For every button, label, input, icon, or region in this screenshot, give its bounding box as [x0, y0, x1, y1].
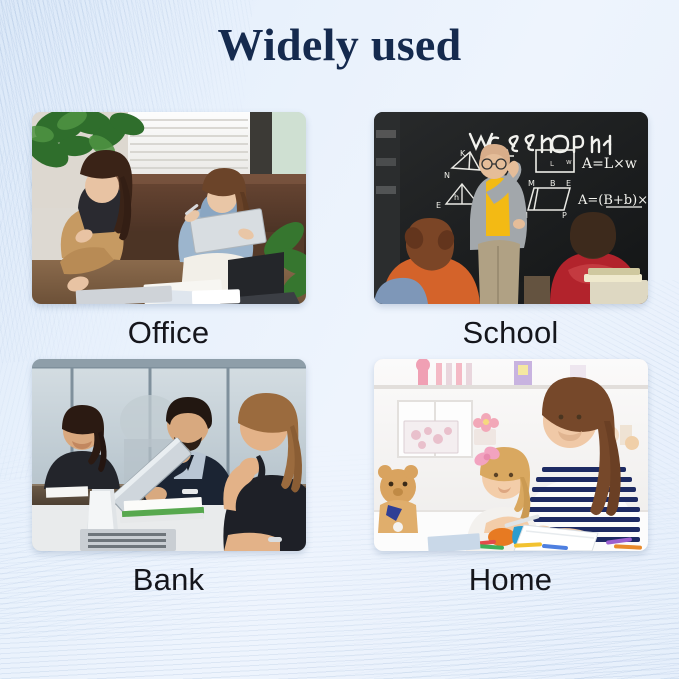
office-caption: Office [128, 314, 210, 351]
svg-text:L: L [550, 160, 554, 168]
svg-text:E: E [436, 201, 441, 210]
bank-photo [32, 359, 306, 551]
page-title: Widely used [0, 22, 679, 68]
school-caption: School [463, 314, 559, 351]
usage-card-school[interactable]: b×h 2 N K L w A=L×w E [374, 112, 648, 351]
svg-text:M: M [528, 179, 535, 188]
svg-text:B: B [550, 179, 556, 188]
usage-row-top: Office [0, 112, 679, 351]
svg-text:A=L×w: A=L×w [581, 156, 637, 172]
usage-card-office[interactable]: Office [32, 112, 306, 351]
svg-text:P: P [562, 211, 567, 220]
office-photo [32, 112, 306, 304]
usage-row-bottom: Bank [0, 359, 679, 598]
svg-text:A=(B+b)×h: A=(B+b)×h [577, 193, 648, 208]
svg-text:N: N [444, 171, 450, 180]
svg-text:w: w [566, 158, 572, 166]
svg-text:E: E [566, 179, 571, 188]
home-photo [374, 359, 648, 551]
usage-card-home[interactable]: Home [374, 359, 648, 598]
usage-grid: Office [0, 112, 679, 598]
svg-text:h: h [454, 193, 459, 202]
school-photo: b×h 2 N K L w A=L×w E [374, 112, 648, 304]
home-caption: Home [469, 561, 553, 598]
bank-caption: Bank [133, 561, 204, 598]
usage-card-bank[interactable]: Bank [32, 359, 306, 598]
svg-text:K: K [460, 149, 466, 158]
